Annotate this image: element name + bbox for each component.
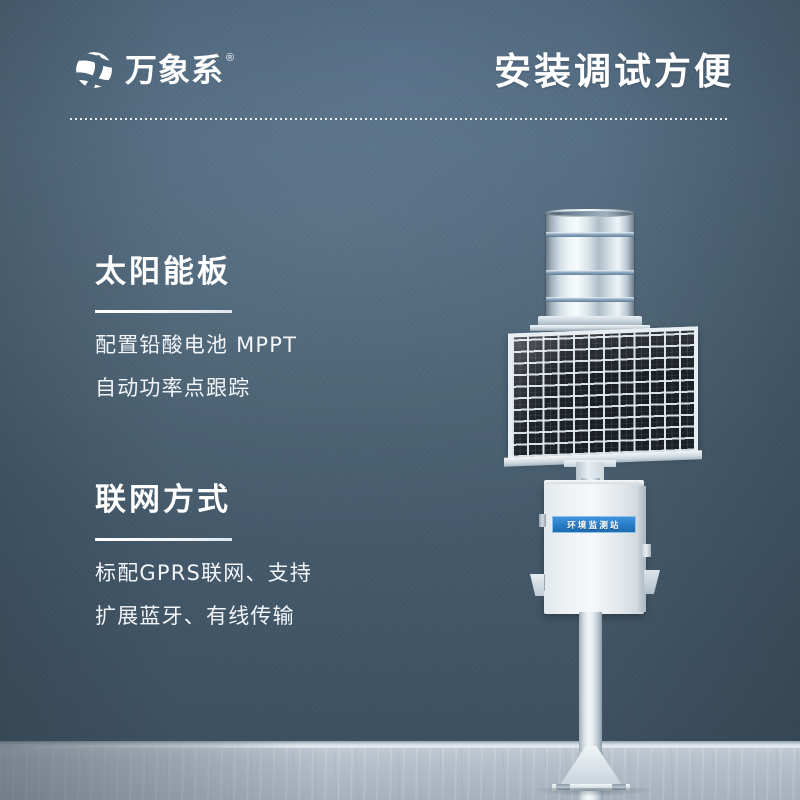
rain-gauge-opening	[550, 211, 630, 216]
banner-canvas: 万象系 ® 安装调试方便 太阳能板 配置铅酸电池 MPPT 自动功率点跟踪 联网…	[0, 0, 800, 800]
page-title: 安装调试方便	[494, 52, 734, 93]
rain-gauge-band	[546, 270, 634, 275]
feature-line: 配置铅酸电池 MPPT	[95, 335, 297, 356]
brand-name-wrap: 万象系 ®	[125, 54, 234, 86]
globe-swoosh-logo-icon	[72, 48, 116, 92]
enclosure-latch[interactable]	[642, 544, 651, 557]
enclosure-bracket-right	[644, 570, 660, 594]
enclosure-nameplate: 环境监测站	[552, 516, 636, 533]
trademark-mark: ®	[226, 53, 234, 64]
solar-panel-icon	[508, 326, 698, 461]
feature-divider	[95, 538, 232, 541]
rain-gauge-cylinder-icon	[546, 212, 634, 318]
control-enclosure-icon	[544, 484, 644, 614]
enclosure-nameplate-text: 环境监测站	[567, 519, 621, 531]
feature-title: 太阳能板	[95, 255, 297, 291]
base-plate-icon	[558, 746, 624, 788]
floor-shadow	[0, 748, 330, 800]
header-divider	[70, 118, 730, 120]
mounting-pole-upper	[579, 612, 602, 758]
rain-gauge-band	[546, 297, 634, 302]
enclosure-bracket-left	[530, 574, 544, 596]
feature-title: 联网方式	[95, 483, 312, 519]
feature-block-network-mode: 联网方式 标配GPRS联网、支持 扩展蓝牙、有线传输	[95, 483, 312, 627]
solar-panel-glare	[512, 331, 694, 458]
feature-block-solar-panel: 太阳能板 配置铅酸电池 MPPT 自动功率点跟踪	[95, 255, 297, 399]
header: 万象系 ® 安装调试方便	[0, 0, 800, 128]
feature-line: 标配GPRS联网、支持	[95, 563, 312, 584]
base-ground-shadow	[534, 788, 652, 796]
brand-logo: 万象系 ®	[72, 48, 234, 92]
brand-name: 万象系	[125, 54, 224, 86]
rain-gauge-band	[546, 232, 634, 237]
feature-line: 扩展蓝牙、有线传输	[95, 606, 312, 627]
feature-line: 自动功率点跟踪	[95, 378, 297, 399]
feature-divider	[95, 310, 232, 313]
weather-station-device: 环境监测站	[478, 196, 728, 796]
enclosure-hinge	[539, 514, 546, 527]
